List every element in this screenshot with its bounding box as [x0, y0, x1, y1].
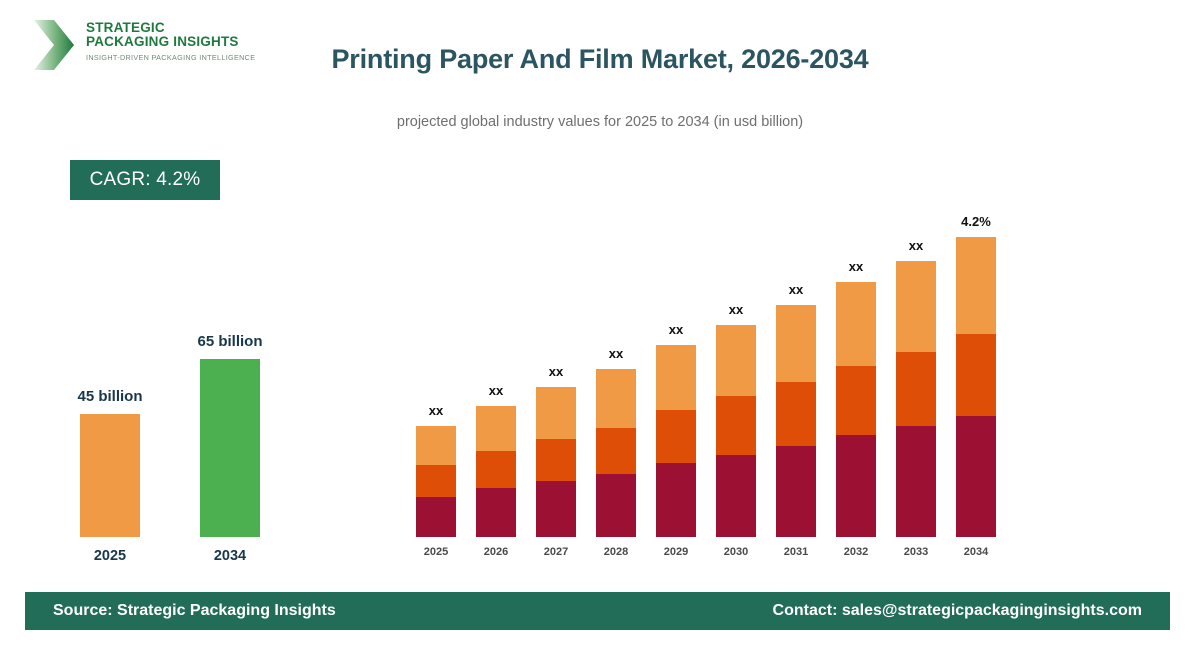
stacked-bar-top-label: xx: [520, 364, 592, 379]
page-subtitle: projected global industry values for 202…: [0, 114, 1200, 130]
stacked-bar-column: xx2025: [416, 200, 456, 560]
logo-line-one: STRATEGIC: [86, 21, 255, 35]
stacked-bar-stack: [416, 426, 456, 537]
stacked-bar-segment-segment-top: [956, 237, 996, 334]
stacked-bar-segment-segment-top: [416, 426, 456, 465]
stacked-bar-segment-segment-bottom: [716, 455, 756, 537]
stacked-bar-segment-segment-middle: [536, 439, 576, 481]
footer-bar: Source: Strategic Packaging Insights Con…: [25, 592, 1170, 630]
comparison-bar-value-label: 45 billion: [40, 388, 180, 405]
stacked-bar-segment-segment-top: [896, 261, 936, 352]
stacked-bar-segment-segment-middle: [896, 352, 936, 426]
stacked-bar-top-label: 4.2%: [940, 214, 1012, 229]
comparison-bar: [200, 359, 260, 537]
stacked-bar-segment-segment-middle: [476, 451, 516, 488]
stacked-bar-segment-segment-bottom: [416, 497, 456, 537]
stacked-bar-segment-segment-bottom: [476, 488, 516, 537]
comparison-bar: [80, 414, 140, 537]
comparison-bar-x-label: 2025: [50, 548, 170, 564]
stacked-bar-column: xx2028: [596, 200, 636, 560]
stacked-bar-column: xx2033: [896, 200, 936, 560]
stacked-bar-column: 4.2%2034: [956, 200, 996, 560]
stacked-bar-top-label: xx: [640, 322, 712, 337]
stacked-bar-column: xx2030: [716, 200, 756, 560]
stacked-bar-segment-segment-middle: [416, 465, 456, 497]
comparison-bar-rect: [200, 359, 260, 537]
stacked-bar-stack: [476, 406, 516, 537]
stacked-bar-segment-segment-middle: [656, 410, 696, 463]
stacked-bar-segment-segment-top: [596, 369, 636, 428]
stacked-bar-stack: [656, 345, 696, 537]
stacked-bar-segment-segment-top: [536, 387, 576, 439]
page-title: Printing Paper And Film Market, 2026-203…: [0, 44, 1200, 75]
stacked-bar-segment-segment-top: [476, 406, 516, 451]
cagr-badge: CAGR: 4.2%: [70, 160, 220, 200]
stacked-bar-x-label: 2034: [940, 546, 1012, 558]
stacked-bar-column: xx2029: [656, 200, 696, 560]
stacked-bar-top-label: xx: [760, 282, 832, 297]
stacked-bar-top-label: xx: [820, 259, 892, 274]
stacked-bar-top-label: xx: [700, 302, 772, 317]
stacked-bar-stack: [536, 387, 576, 537]
stacked-bar-stack: [896, 261, 936, 537]
comparison-bar-x-label: 2034: [170, 548, 290, 564]
stacked-bar-segment-segment-middle: [776, 382, 816, 446]
stacked-bar-top-label: xx: [880, 238, 952, 253]
stacked-bar-segment-segment-top: [776, 305, 816, 382]
stacked-bar-column: xx2027: [536, 200, 576, 560]
stacked-bar-segment-segment-middle: [836, 366, 876, 435]
footer-source-text: Source: Strategic Packaging Insights: [53, 602, 336, 620]
stacked-bar-segment-segment-middle: [596, 428, 636, 474]
comparison-bar-rect: [80, 414, 140, 537]
comparison-bar-chart: 45 billion202565 billion2034: [55, 320, 285, 570]
stacked-bar-stack: [596, 369, 636, 537]
stacked-bar-segment-segment-middle: [956, 334, 996, 416]
stacked-bar-segment-segment-top: [656, 345, 696, 410]
stacked-bar-segment-segment-bottom: [656, 463, 696, 537]
stacked-bar-column: xx2026: [476, 200, 516, 560]
stacked-bar-top-label: xx: [460, 383, 532, 398]
stacked-bar-stack: [956, 237, 996, 537]
comparison-bar-value-label: 65 billion: [160, 333, 300, 350]
stacked-bar-stack: [836, 282, 876, 537]
stacked-bar-segment-segment-bottom: [776, 446, 816, 537]
stacked-bar-column: xx2032: [836, 200, 876, 560]
stacked-bar-segment-segment-bottom: [836, 435, 876, 537]
stacked-bar-stack: [776, 305, 816, 537]
stacked-bar-segment-segment-top: [716, 325, 756, 396]
stacked-bar-stack: [716, 325, 756, 537]
stacked-bar-top-label: xx: [580, 346, 652, 361]
stacked-bar-top-label: xx: [400, 403, 472, 418]
stacked-bar-chart: xx2025xx2026xx2027xx2028xx2029xx2030xx20…: [408, 200, 1008, 560]
stacked-bar-column: xx2031: [776, 200, 816, 560]
stacked-bar-segment-segment-bottom: [596, 474, 636, 537]
stacked-bar-segment-segment-bottom: [956, 416, 996, 537]
footer-contact-text: Contact: sales@strategicpackaginginsight…: [773, 602, 1142, 620]
stacked-bar-segment-segment-bottom: [536, 481, 576, 537]
stacked-bar-segment-segment-middle: [716, 396, 756, 455]
stacked-bar-segment-segment-top: [836, 282, 876, 366]
stacked-bar-segment-segment-bottom: [896, 426, 936, 537]
